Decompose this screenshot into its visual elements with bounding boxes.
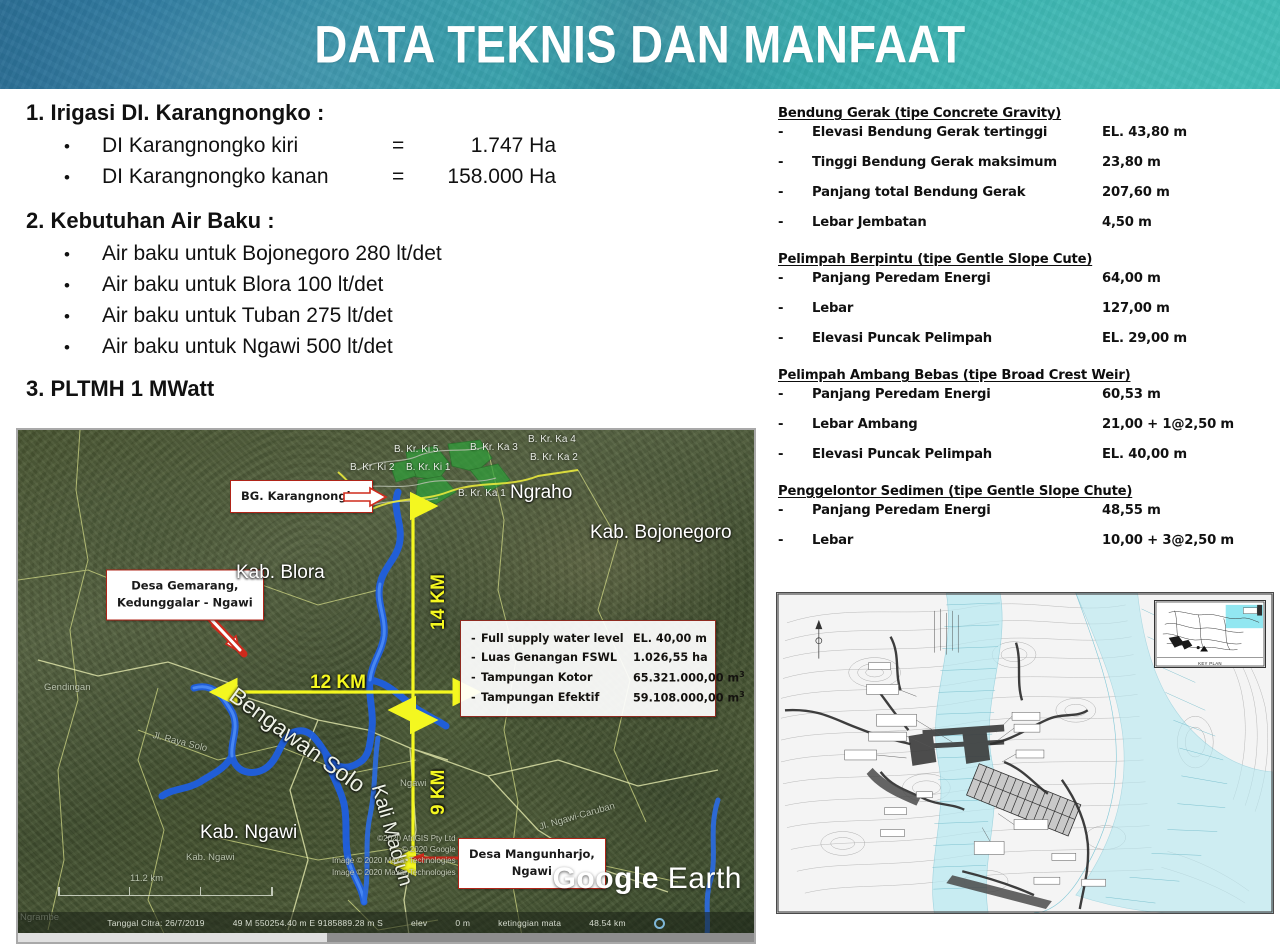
- dimension-label-12km: 12 KM: [310, 672, 366, 694]
- spec-group-title: Pelimpah Ambang Bebas (tipe Broad Crest …: [778, 368, 1272, 383]
- site-plan-drawing[interactable]: KEY PLAN: [776, 592, 1274, 914]
- spec-group-title: Bendung Gerak (tipe Concrete Gravity): [778, 106, 1272, 121]
- map-label-block-3: B. Kr. Ka 4: [528, 434, 576, 445]
- info-label: Tampungan Efektif: [481, 688, 633, 707]
- spec-row: - Panjang Peredam Energi 64,00 m: [778, 271, 1272, 301]
- dash-icon: -: [778, 331, 812, 346]
- dash-icon: -: [778, 185, 812, 200]
- spec-row: - Tinggi Bendung Gerak maksimum 23,80 m: [778, 155, 1272, 185]
- spec-value: 60,53 m: [1102, 387, 1272, 402]
- spec-value: 64,00 m: [1102, 271, 1272, 286]
- spec-value: 21,00 + 1@2,50 m: [1102, 417, 1272, 432]
- status-eye-value: 48.54 km: [589, 918, 626, 928]
- list-item: • DI Karangnongko kiri = 1.747 Ha: [26, 130, 726, 161]
- dash-icon: -: [778, 447, 812, 462]
- map-scrollbar[interactable]: [18, 933, 754, 942]
- map-label-block-1: B. Kr. Ki 5: [394, 444, 438, 455]
- equals-sign: =: [392, 161, 426, 192]
- map-label-block-6: B. Kr. Ki 1: [406, 462, 450, 473]
- key-plan-label: KEY PLAN: [1155, 661, 1265, 666]
- spec-label: Elevasi Puncak Pelimpah: [812, 447, 1102, 462]
- info-value: 59.108.000,00 m3: [633, 688, 745, 708]
- info-value: EL. 40,00 m: [633, 629, 707, 648]
- dash-icon: -: [778, 503, 812, 518]
- irigasi-name: DI Karangnongko kanan: [102, 161, 392, 192]
- bullet-icon: •: [64, 165, 102, 190]
- map-attribution: ©2020 AfriGIS Pty Ltd © 2020 Google Imag…: [332, 833, 456, 878]
- dash-icon: -: [471, 648, 481, 667]
- info-label: Tampungan Kotor: [481, 668, 633, 687]
- section-pltmh-title: 3. PLTMH 1 MWatt: [26, 376, 726, 402]
- spec-group-title: Pelimpah Berpintu (tipe Gentle Slope Cut…: [778, 252, 1272, 267]
- spec-row: - Lebar Jembatan 4,50 m: [778, 215, 1272, 245]
- irigasi-value: 1.747 Ha: [426, 130, 556, 161]
- spec-value: EL. 43,80 m: [1102, 125, 1272, 140]
- spec-value: 23,80 m: [1102, 155, 1272, 170]
- map-label-block-5: B. Kr. Ki 2: [350, 462, 394, 473]
- spec-value: EL. 29,00 m: [1102, 331, 1272, 346]
- irigasi-name: DI Karangnongko kiri: [102, 130, 392, 161]
- dash-icon: -: [471, 629, 481, 648]
- info-label: Luas Genangan FSWL: [481, 648, 633, 667]
- info-value: 1.026,55 ha: [633, 648, 708, 667]
- bullet-icon: •: [64, 335, 102, 360]
- map-label-gendingan: Gendingan: [44, 682, 90, 693]
- info-label: Full supply water level: [481, 629, 633, 648]
- spec-group-title: Penggelontor Sedimen (tipe Gentle Slope …: [778, 484, 1272, 499]
- list-item: • Air baku untuk Ngawi 500 lt/det: [26, 331, 726, 362]
- dash-icon: -: [778, 271, 812, 286]
- technical-specs-panel: Bendung Gerak (tipe Concrete Gravity) - …: [778, 106, 1272, 564]
- spec-label: Lebar Ambang: [812, 417, 1102, 432]
- status-elev-value: 0 m: [455, 918, 470, 928]
- irigasi-value: 158.000 Ha: [426, 161, 556, 192]
- spec-label: Lebar: [812, 301, 1102, 316]
- section-air-baku-title: 2. Kebutuhan Air Baku :: [26, 208, 726, 234]
- spec-group: Pelimpah Berpintu (tipe Gentle Slope Cut…: [778, 252, 1272, 361]
- map-scale-label: 11.2 km: [130, 873, 163, 884]
- map-label-kab-ngawi: Kab. Ngawi: [200, 822, 297, 844]
- info-row: - Tampungan Kotor 65.321.000,00 m3: [471, 668, 703, 688]
- map-label-block-2: B. Kr. Ka 3: [470, 442, 518, 453]
- dimension-label-9km: 9 KM: [428, 770, 450, 815]
- status-elev-label: elev: [411, 918, 427, 928]
- map-scale-bar: [58, 887, 273, 896]
- map-label-kab-ngawi-secondary: Kab. Ngawi: [186, 852, 235, 863]
- dash-icon: -: [778, 417, 812, 432]
- page-header: DATA TEKNIS DAN MANFAAT: [0, 0, 1280, 89]
- dash-icon: -: [778, 301, 812, 316]
- spec-label: Tinggi Bendung Gerak maksimum: [812, 155, 1102, 170]
- status-image-date: Tanggal Citra: 26/7/2019: [107, 918, 204, 928]
- spec-row: - Elevasi Puncak Pelimpah EL. 29,00 m: [778, 331, 1272, 361]
- bullet-icon: •: [64, 134, 102, 159]
- bullet-icon: •: [64, 304, 102, 329]
- air-baku-text: Air baku untuk Blora 100 lt/det: [102, 269, 383, 300]
- spec-row: - Lebar 127,00 m: [778, 301, 1272, 331]
- air-baku-text: Air baku untuk Ngawi 500 lt/det: [102, 331, 393, 362]
- bullet-icon: •: [64, 242, 102, 267]
- list-item: • DI Karangnongko kanan = 158.000 Ha: [26, 161, 726, 192]
- dash-icon: -: [778, 155, 812, 170]
- spec-value: 207,60 m: [1102, 185, 1272, 200]
- spec-label: Lebar: [812, 533, 1102, 548]
- spec-group: Penggelontor Sedimen (tipe Gentle Slope …: [778, 484, 1272, 563]
- spec-label: Elevasi Bendung Gerak tertinggi: [812, 125, 1102, 140]
- spec-group: Bendung Gerak (tipe Concrete Gravity) - …: [778, 106, 1272, 245]
- map-label-block-7: B. Kr. Ka 1: [458, 488, 506, 499]
- dash-icon: -: [778, 387, 812, 402]
- benefits-panel: 1. Irigasi DI. Karangnongko : • DI Karan…: [26, 100, 726, 406]
- callout-bg-karangnongko[interactable]: BG. Karangnongko: [230, 480, 373, 513]
- map-status-bar: Tanggal Citra: 26/7/2019 49 M 550254.40 …: [18, 912, 754, 934]
- spec-value: 48,55 m: [1102, 503, 1272, 518]
- satellite-map[interactable]: BG. Karangnongko Desa Gemarang, Kedungga…: [16, 428, 756, 944]
- spec-label: Panjang total Bendung Gerak: [812, 185, 1102, 200]
- spec-row: - Panjang Peredam Energi 60,53 m: [778, 387, 1272, 417]
- section-irigasi-title: 1. Irigasi DI. Karangnongko :: [26, 100, 726, 126]
- dash-icon: -: [778, 533, 812, 548]
- map-label-ngawi-town: Ngawi: [400, 778, 426, 789]
- page-title: DATA TEKNIS DAN MANFAAT: [90, 14, 1191, 75]
- dash-icon: -: [778, 215, 812, 230]
- spec-label: Elevasi Puncak Pelimpah: [812, 331, 1102, 346]
- spec-group: Pelimpah Ambang Bebas (tipe Broad Crest …: [778, 368, 1272, 477]
- spec-value: 10,00 + 3@2,50 m: [1102, 533, 1272, 548]
- status-coordinates: 49 M 550254.40 m E 9185889.28 m S: [233, 918, 383, 928]
- google-earth-logo: Google Earth: [553, 862, 742, 896]
- map-label-kab-blora: Kab. Blora: [236, 562, 325, 584]
- spec-value: 4,50 m: [1102, 215, 1272, 230]
- spec-value: 127,00 m: [1102, 301, 1272, 316]
- spec-row: - Panjang total Bendung Gerak 207,60 m: [778, 185, 1272, 215]
- spec-row: - Panjang Peredam Energi 48,55 m: [778, 503, 1272, 533]
- info-row: - Luas Genangan FSWL 1.026,55 ha: [471, 648, 703, 667]
- key-plan-inset: KEY PLAN: [1154, 600, 1266, 668]
- equals-sign: =: [392, 130, 426, 161]
- list-item: • Air baku untuk Bojonegoro 280 lt/det: [26, 238, 726, 269]
- status-eye-label: ketinggian mata: [498, 918, 561, 928]
- reservoir-info-box: - Full supply water level EL. 40,00 m - …: [460, 620, 716, 717]
- spec-row: - Elevasi Bendung Gerak tertinggi EL. 43…: [778, 125, 1272, 155]
- list-item: • Air baku untuk Tuban 275 lt/det: [26, 300, 726, 331]
- dash-icon: -: [778, 125, 812, 140]
- compass-icon[interactable]: [654, 918, 665, 929]
- spec-value: EL. 40,00 m: [1102, 447, 1272, 462]
- info-row: - Tampungan Efektif 59.108.000,00 m3: [471, 688, 703, 708]
- map-label-kab-bojonegoro: Kab. Bojonegoro: [590, 522, 732, 544]
- spec-row: - Lebar Ambang 21,00 + 1@2,50 m: [778, 417, 1272, 447]
- spec-row: - Lebar 10,00 + 3@2,50 m: [778, 533, 1272, 563]
- map-label-ngraho: Ngraho: [510, 482, 572, 504]
- spec-label: Panjang Peredam Energi: [812, 503, 1102, 518]
- spec-label: Panjang Peredam Energi: [812, 387, 1102, 402]
- air-baku-text: Air baku untuk Tuban 275 lt/det: [102, 300, 393, 331]
- spec-label: Panjang Peredam Energi: [812, 271, 1102, 286]
- spec-label: Lebar Jembatan: [812, 215, 1102, 230]
- info-value: 65.321.000,00 m3: [633, 668, 745, 688]
- bullet-icon: •: [64, 273, 102, 298]
- spec-row: - Elevasi Puncak Pelimpah EL. 40,00 m: [778, 447, 1272, 477]
- dimension-label-14km: 14 KM: [428, 574, 450, 630]
- info-row: - Full supply water level EL. 40,00 m: [471, 629, 703, 648]
- dash-icon: -: [471, 688, 481, 707]
- dash-icon: -: [471, 668, 481, 687]
- map-label-block-4: B. Kr. Ka 2: [530, 452, 578, 463]
- air-baku-text: Air baku untuk Bojonegoro 280 lt/det: [102, 238, 442, 269]
- list-item: • Air baku untuk Blora 100 lt/det: [26, 269, 726, 300]
